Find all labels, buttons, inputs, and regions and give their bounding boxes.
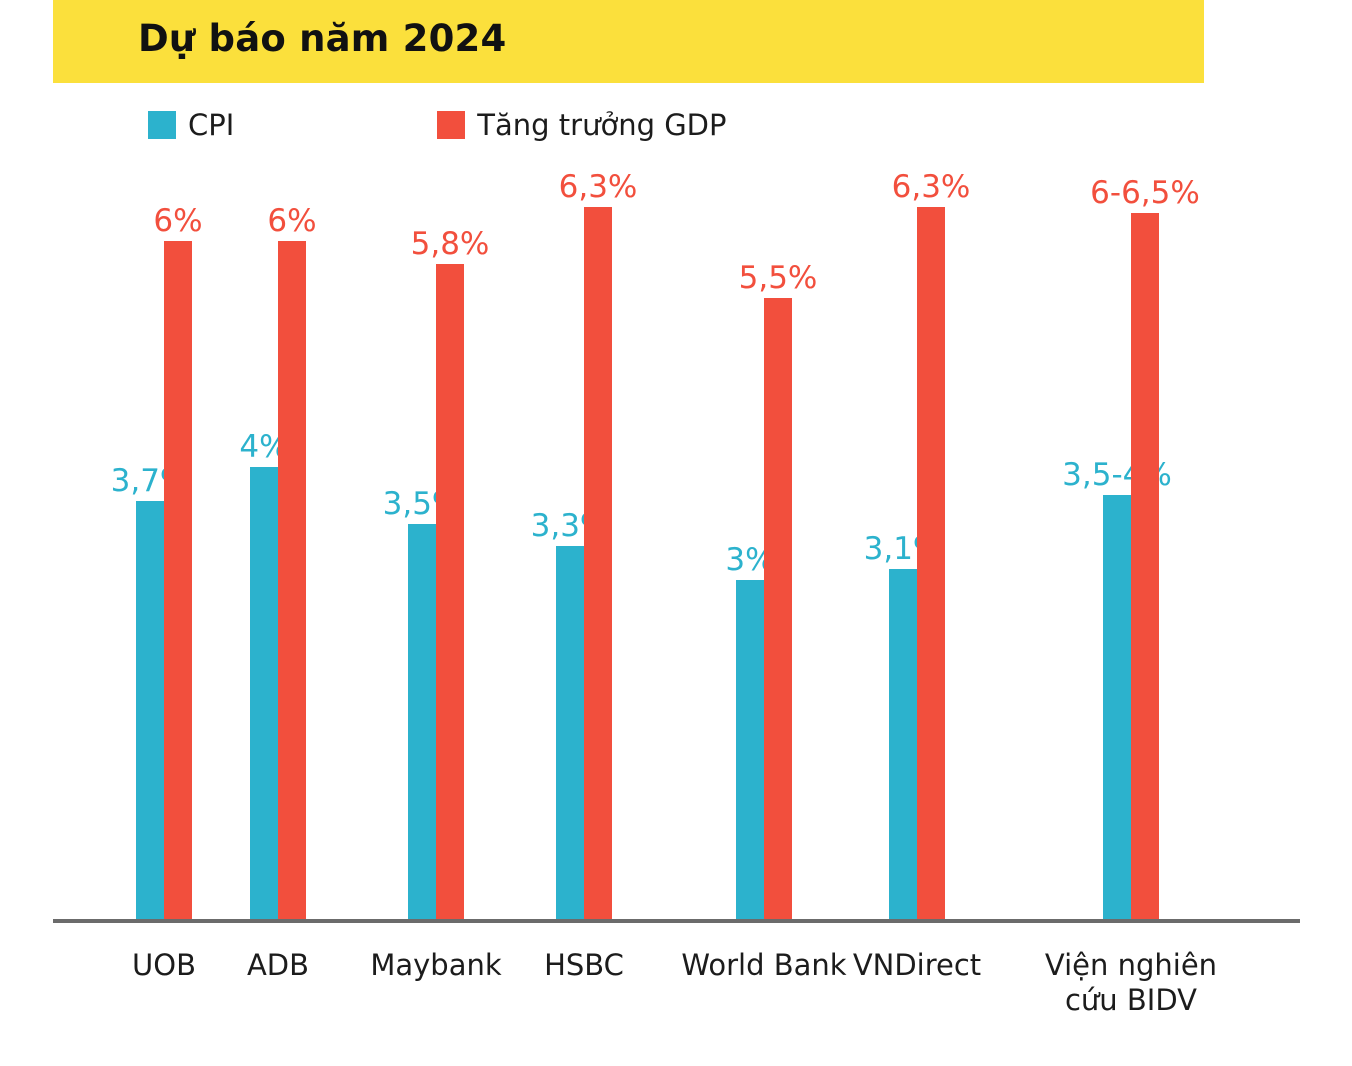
- bar-gdp[interactable]: 6%: [278, 241, 306, 919]
- bar-pair: 3,1%6,3%: [889, 207, 945, 919]
- bar-value-label-gdp: 5,8%: [411, 229, 490, 260]
- bar-value-label-gdp: 6%: [153, 206, 202, 237]
- bar-value-label-gdp: 5,5%: [739, 263, 818, 294]
- bar-cpi[interactable]: 3,5-4%: [1103, 495, 1131, 919]
- bar-rect: [136, 501, 164, 919]
- bar-rect: [1103, 495, 1131, 919]
- bar-gdp[interactable]: 5,5%: [764, 298, 792, 920]
- bar-rect: [278, 241, 306, 919]
- bar-value-label-gdp: 6%: [267, 206, 316, 237]
- bar-pair: 3,5-4%6-6,5%: [1103, 213, 1159, 919]
- bar-gdp[interactable]: 6,3%: [584, 207, 612, 919]
- bar-pair: 4%6%: [250, 241, 306, 919]
- bar-gdp[interactable]: 5,8%: [436, 264, 464, 919]
- bar-rect: [736, 580, 764, 919]
- bar-rect: [408, 524, 436, 920]
- bar-cpi[interactable]: 3,5%: [408, 524, 436, 920]
- bar-gdp[interactable]: 6,3%: [917, 207, 945, 919]
- x-axis-line: [53, 919, 1300, 923]
- bar-cpi[interactable]: 3,7%: [136, 501, 164, 919]
- bar-chart-plot-area: 3,7%6%4%6%3,5%5,8%3,3%6,3%3%5,5%3,1%6,3%…: [0, 0, 1352, 1066]
- bar-rect: [764, 298, 792, 920]
- bar-rect: [436, 264, 464, 919]
- bar-cpi[interactable]: 3,3%: [556, 546, 584, 919]
- bar-rect: [917, 207, 945, 919]
- bar-value-label-gdp: 6,3%: [559, 172, 638, 203]
- bar-pair: 3,3%6,3%: [556, 207, 612, 919]
- bar-cpi[interactable]: 4%: [250, 467, 278, 919]
- bar-rect: [556, 546, 584, 919]
- x-axis-label: Viện nghiên cứu BIDV: [981, 948, 1281, 1019]
- bar-gdp[interactable]: 6%: [164, 241, 192, 919]
- bar-rect: [250, 467, 278, 919]
- bar-rect: [889, 569, 917, 919]
- bar-pair: 3%5,5%: [736, 298, 792, 920]
- bar-pair: 3,7%6%: [136, 241, 192, 919]
- bar-rect: [164, 241, 192, 919]
- bar-gdp[interactable]: 6-6,5%: [1131, 213, 1159, 919]
- bar-rect: [1131, 213, 1159, 919]
- bar-pair: 3,5%5,8%: [408, 264, 464, 919]
- bar-cpi[interactable]: 3,1%: [889, 569, 917, 919]
- bar-rect: [584, 207, 612, 919]
- bar-value-label-gdp: 6,3%: [892, 172, 971, 203]
- bar-value-label-gdp: 6-6,5%: [1090, 178, 1200, 209]
- bar-cpi[interactable]: 3%: [736, 580, 764, 919]
